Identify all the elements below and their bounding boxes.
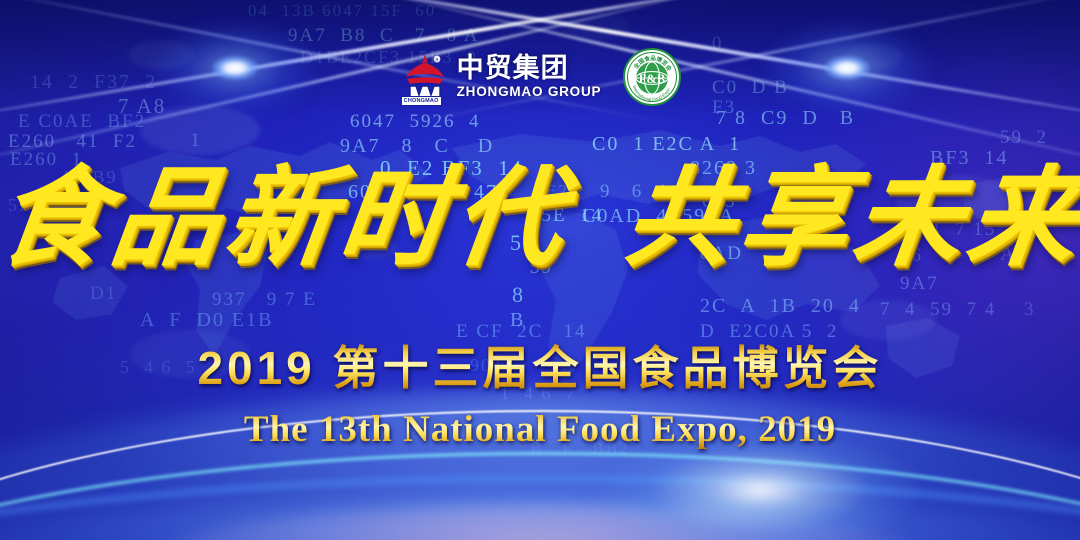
headline-part-2: 共享未来 [619,166,1080,274]
subtitle-english: The 13th National Food Expo, 2019 [0,408,1080,451]
zhongmao-badge-label: CHONGMAO [401,96,442,106]
logo-bar: R CHONGMAO 中贸集团 ZHONGMAO GROUP F&B 全国食 [0,46,1080,108]
svg-text:R: R [435,57,438,62]
food-expo-logo[interactable]: F&B 全国食品博览会 International Food Expo [623,48,681,106]
subtitle-chinese: 2019 第十三届全国食品博览会 [0,344,1080,392]
zhongmao-group-logo[interactable]: R CHONGMAO 中贸集团 ZHONGMAO GROUP [399,49,602,105]
zhongmao-name-en: ZHONGMAO GROUP [457,85,602,99]
headline-part-1: 食品新时代 [0,166,575,274]
zhongmao-name-cn: 中贸集团 [457,55,602,82]
zhongmao-emblem-icon: R CHONGMAO [399,51,451,103]
food-expo-poster: 04 13B 6047 15F 609A7 B8 C 7 8 AE260 41 … [0,0,1080,540]
headline: 食品新时代 共享未来 [0,150,1080,290]
expo-monogram: F&B [639,72,665,86]
